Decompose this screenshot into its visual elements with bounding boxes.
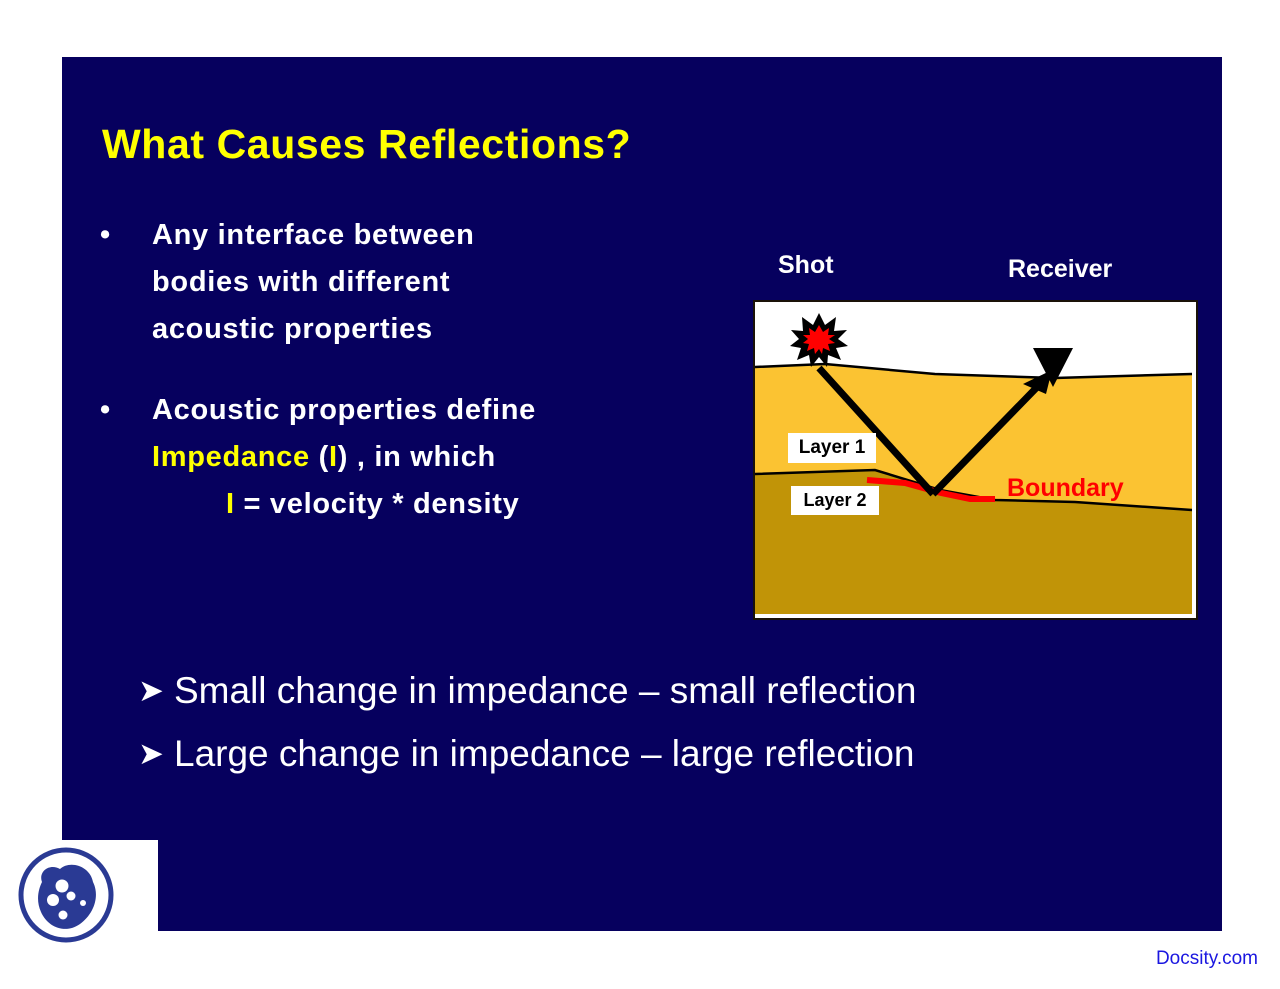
- bullet-list: • Any interface between bodies with diff…: [100, 212, 750, 528]
- bullet-line-equation: I = velocity * density: [152, 481, 750, 528]
- bullet-line: acoustic properties: [152, 306, 750, 353]
- logo-dot: [80, 900, 86, 906]
- arrow-bullet-text: Small change in impedance – small reflec…: [174, 670, 916, 711]
- arrow-bullet-icon: ➤: [138, 738, 174, 769]
- impedance-symbol: I: [329, 441, 338, 473]
- impedance-tail: ) , in which: [338, 441, 496, 473]
- logo-dot: [56, 880, 69, 893]
- layer1-callout: Layer 1: [788, 433, 876, 463]
- list-item: • Acoustic properties define Impedance (…: [100, 387, 750, 528]
- logo-dot: [47, 894, 59, 906]
- shot-label: Shot: [778, 251, 834, 280]
- arrow-bullet-list: ➤ Small change in impedance – small refl…: [138, 670, 1178, 775]
- logo-dot: [59, 911, 68, 920]
- arrow-bullet-icon: ➤: [138, 675, 174, 706]
- bullet-text-block: Acoustic properties define Impedance (I)…: [152, 387, 750, 528]
- list-item: • Any interface between bodies with diff…: [100, 212, 750, 353]
- impedance-keyword: Impedance: [152, 441, 310, 473]
- list-item: ➤ Large change in impedance – large refl…: [138, 733, 1178, 774]
- docsity-cookie-logo: [8, 840, 158, 950]
- footer-brand[interactable]: Docsity.com: [1156, 948, 1258, 970]
- layer2-callout: Layer 2: [791, 486, 879, 515]
- impedance-paren-open: (: [310, 441, 329, 473]
- equation-tail: = velocity * density: [235, 488, 520, 520]
- bullet-line: Any interface between: [152, 212, 750, 259]
- logo-dot: [67, 892, 76, 901]
- bullet-dot-icon: •: [100, 387, 152, 434]
- bullet-line-impedance: Impedance (I) , in which: [152, 434, 750, 481]
- slide-canvas: What Causes Reflections? • Any interface…: [0, 0, 1280, 989]
- page-title: What Causes Reflections?: [102, 123, 1102, 166]
- bullet-line: bodies with different: [152, 259, 750, 306]
- seismic-reflection-diagram: Layer 1 Layer 2 Boundary: [753, 300, 1198, 620]
- receiver-label: Receiver: [1008, 255, 1112, 284]
- bullet-text-block: Any interface between bodies with differ…: [152, 212, 750, 353]
- bullet-line: Acoustic properties define: [152, 387, 750, 434]
- slide-panel: What Causes Reflections? • Any interface…: [62, 57, 1222, 931]
- bullet-dot-icon: •: [100, 212, 152, 259]
- equation-symbol: I: [226, 488, 235, 520]
- boundary-label: Boundary: [1007, 474, 1124, 503]
- logo-plate: [8, 840, 158, 950]
- list-item: ➤ Small change in impedance – small refl…: [138, 670, 1178, 711]
- arrow-bullet-text: Large change in impedance – large reflec…: [174, 733, 915, 774]
